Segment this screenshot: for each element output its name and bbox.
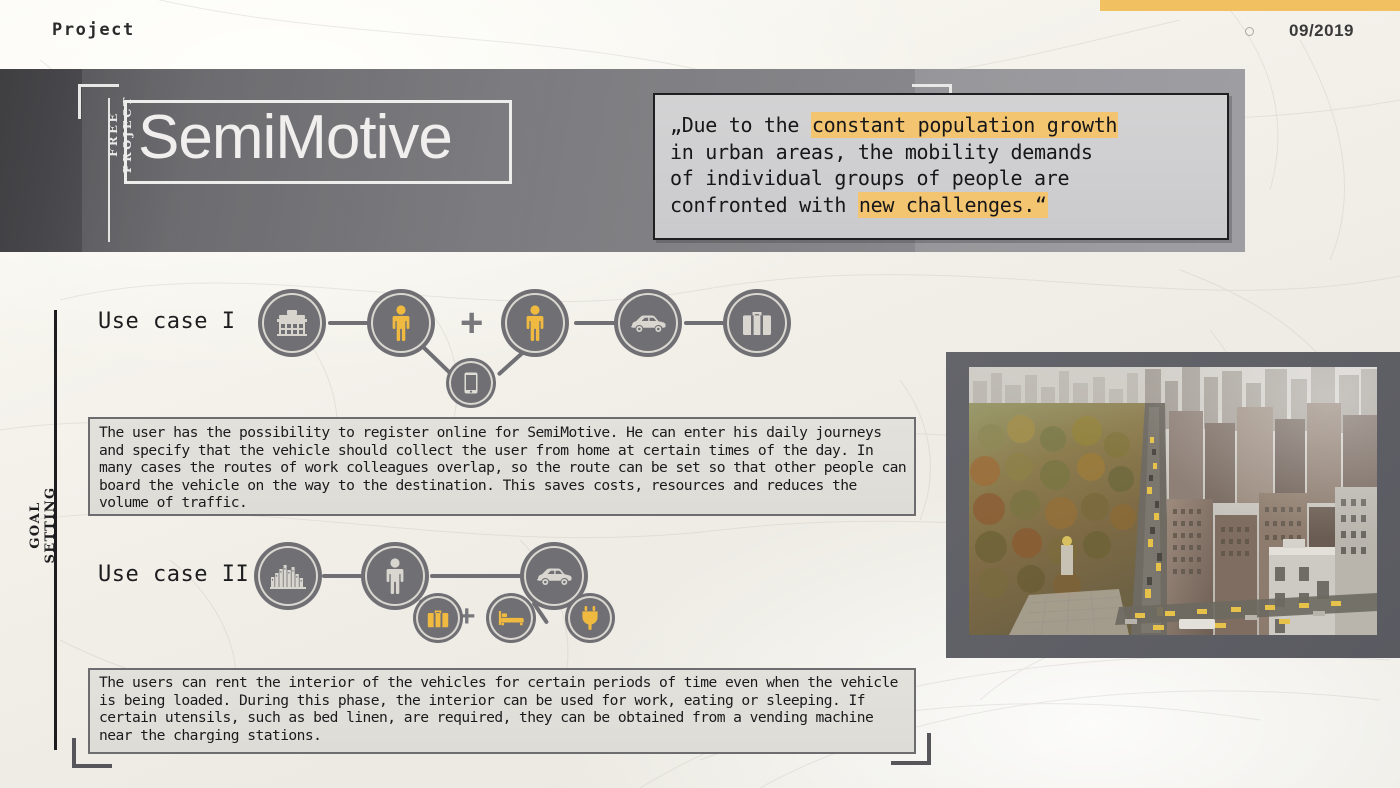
uc2-link-car-plug: [531, 601, 549, 625]
suitcase-icon: [427, 609, 449, 628]
suitcase-icon: [742, 310, 772, 336]
quote-highlight-2: new challenges.“: [858, 192, 1048, 218]
page-title: SemiMotive: [138, 99, 452, 177]
quote-highlight-1: constant population growth: [811, 112, 1118, 138]
person-icon: [523, 305, 547, 341]
bed-icon: [498, 609, 524, 627]
person-icon: [389, 305, 413, 341]
date-label: 09/2019: [1289, 21, 1354, 41]
person-icon: [383, 558, 407, 594]
power-plug-icon: [580, 606, 600, 630]
quote-line-2: in urban areas, the mobility demands: [670, 140, 1093, 164]
uc1-node-car[interactable]: [624, 299, 672, 347]
top-bar: Project 09/2019: [0, 0, 1400, 66]
house-icon: [275, 309, 309, 337]
use-case-1-label: Use case I: [98, 309, 235, 334]
date-marker-icon: [1245, 27, 1254, 36]
car-icon: [536, 566, 572, 586]
uc2-node-plug[interactable]: [573, 601, 607, 635]
uc1-node-person-b[interactable]: [511, 299, 559, 347]
smartphone-icon: [464, 372, 478, 394]
uc2-node-person[interactable]: [371, 552, 419, 600]
uc1-plus-operator: +: [460, 303, 483, 343]
uc1-link-car-suitcase: [684, 321, 726, 325]
uc2-link-person-car: [430, 574, 528, 578]
slide-root: Project 09/2019 FREE PROJECT SemiMotive …: [0, 0, 1400, 788]
use-case-2-description: The users can rent the interior of the v…: [99, 674, 911, 744]
uc2-plus-operator: +: [458, 602, 476, 632]
aerial-city-park-photo: [969, 367, 1377, 635]
use-case-1-description: The user has the possibility to register…: [99, 424, 911, 512]
quote-line-3: of individual groups of people are: [670, 166, 1069, 190]
uc2-node-car[interactable]: [530, 552, 578, 600]
section-label-goal-setting: GOAL SETTING: [28, 460, 58, 590]
project-label: Project: [52, 20, 135, 40]
accent-strip: [1100, 0, 1400, 11]
quote-line-1-plain: „Due to the: [670, 113, 811, 137]
uc2-node-suitcase[interactable]: [421, 601, 455, 635]
use-case-2-label: Use case II: [98, 562, 249, 587]
uc1-link-house-person: [328, 321, 368, 325]
uc2-node-city[interactable]: [264, 552, 312, 600]
uc2-node-bed[interactable]: [494, 601, 528, 635]
quote-text: „Due to the constant population growth i…: [670, 112, 1222, 218]
uc1-link-person2-car: [574, 321, 616, 325]
uc1-node-smartphone[interactable]: [454, 366, 488, 400]
uc1-link-person-phone: [415, 339, 458, 381]
city-skyline-icon: [270, 563, 306, 589]
quote-line-4-plain: confronted with: [670, 193, 858, 217]
uc1-node-person-a[interactable]: [377, 299, 425, 347]
uc1-node-suitcase[interactable]: [733, 299, 781, 347]
uc1-node-house[interactable]: [268, 299, 316, 347]
car-icon: [630, 313, 666, 333]
uc2-link-city-person: [322, 574, 364, 578]
